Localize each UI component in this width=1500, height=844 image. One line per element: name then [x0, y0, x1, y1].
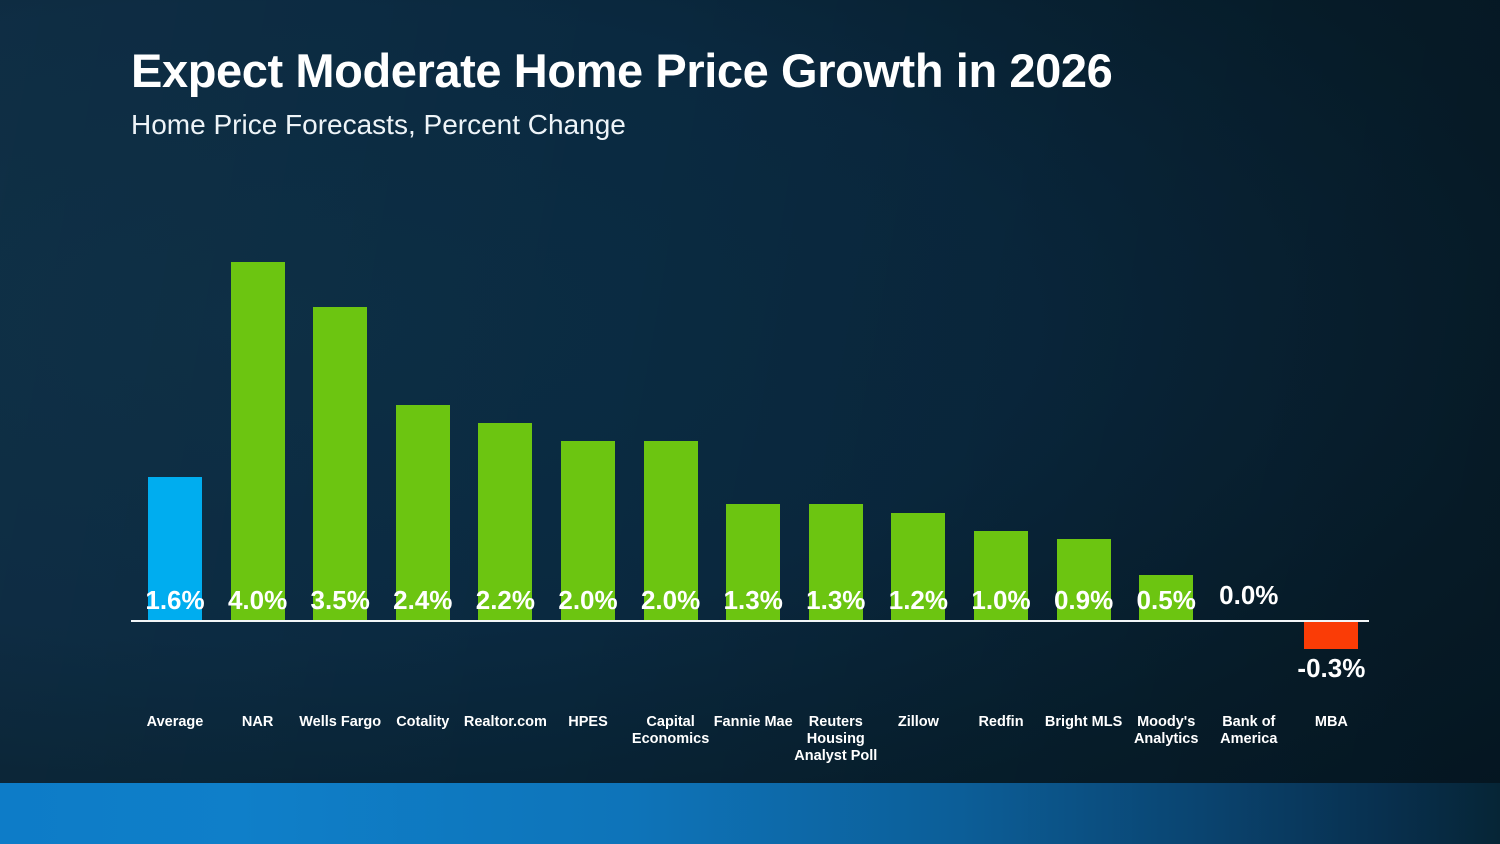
- bar-fill: [231, 262, 285, 620]
- bar-fill: [1304, 622, 1358, 649]
- bar-value-label: -0.3%: [1290, 653, 1372, 684]
- bar-value-label: 2.0%: [630, 585, 712, 616]
- bar-value-label: 0.9%: [1043, 585, 1125, 616]
- bar-value-label: 3.5%: [299, 585, 381, 616]
- bar-value-label: 2.2%: [464, 585, 546, 616]
- bar[interactable]: 3.5%: [313, 307, 367, 620]
- page-subtitle: Home Price Forecasts, Percent Change: [131, 110, 1431, 141]
- bar-value-label: 2.4%: [382, 585, 464, 616]
- bar-value-label: 1.3%: [712, 585, 794, 616]
- bar-value-label: 1.6%: [134, 585, 216, 616]
- bar-value-label: 2.0%: [547, 585, 629, 616]
- bar-value-label: 0.0%: [1208, 580, 1290, 611]
- bar[interactable]: 2.0%: [561, 441, 615, 620]
- slide-header: Expect Moderate Home Price Growth in 202…: [131, 46, 1431, 141]
- category-label: MBA: [1277, 714, 1385, 731]
- footer-accent-band: [0, 783, 1500, 844]
- bar[interactable]: 1.6%: [148, 477, 202, 620]
- bar[interactable]: 1.3%: [809, 504, 863, 620]
- bar[interactable]: 1.0%: [974, 531, 1028, 621]
- bar-value-label: 4.0%: [217, 585, 299, 616]
- bar[interactable]: -0.3%: [1304, 622, 1358, 649]
- bar-fill: [313, 307, 367, 620]
- page-title: Expect Moderate Home Price Growth in 202…: [131, 46, 1431, 97]
- bar[interactable]: 2.0%: [644, 441, 698, 620]
- bar[interactable]: 4.0%: [231, 262, 285, 620]
- bar[interactable]: 1.3%: [726, 504, 780, 620]
- bar[interactable]: 0.5%: [1139, 575, 1193, 620]
- bar-value-label: 1.3%: [795, 585, 877, 616]
- bar-value-label: 0.5%: [1125, 585, 1207, 616]
- bar[interactable]: 2.4%: [396, 405, 450, 620]
- bar[interactable]: 1.2%: [891, 513, 945, 620]
- bar[interactable]: 2.2%: [478, 423, 532, 620]
- slide-canvas: Expect Moderate Home Price Growth in 202…: [0, 0, 1500, 844]
- bar-value-label: 1.2%: [877, 585, 959, 616]
- bar-value-label: 1.0%: [960, 585, 1042, 616]
- bar[interactable]: 0.9%: [1057, 539, 1111, 620]
